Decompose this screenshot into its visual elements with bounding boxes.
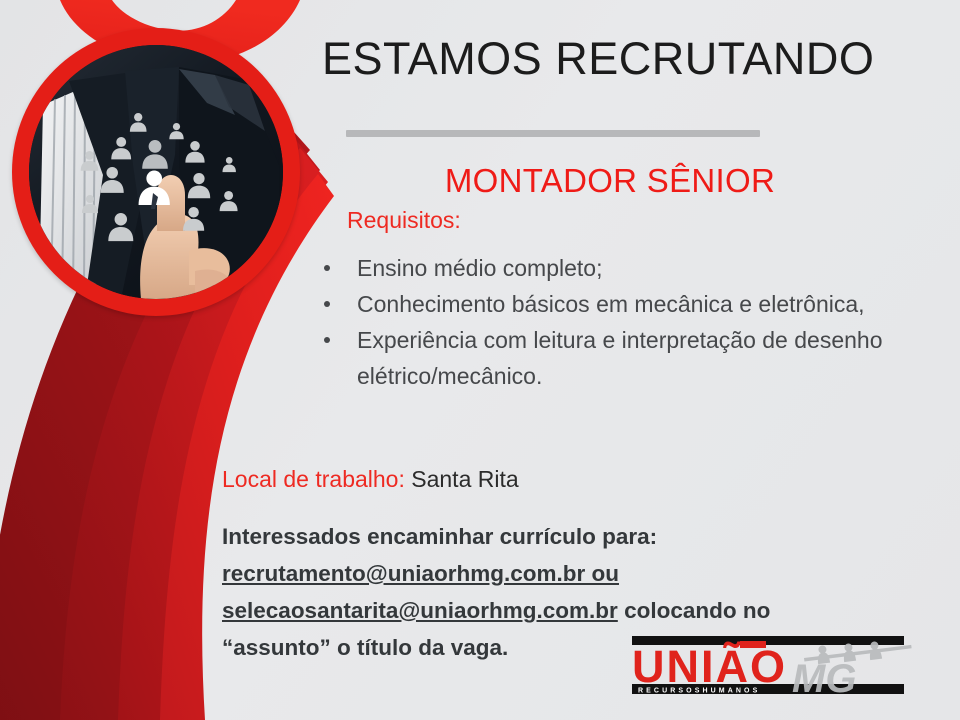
photo-circle-frame [12,28,300,316]
requirement-text: Ensino médio completo; [357,255,602,281]
svg-text:RECURSOSHUMANOS: RECURSOSHUMANOS [638,688,760,695]
bullet-icon [324,265,330,271]
contact-tail-one: colocando no [624,598,770,623]
contact-intro: Interessados encaminhar currículo para: [222,518,952,555]
requirements-list: Ensino médio completo; Conhecimento bási… [318,250,918,394]
page-title: ESTAMOS RECRUTANDO [322,36,922,81]
bullet-icon [324,337,330,343]
email-secondary[interactable]: selecaosantarita@uniaorhmg.com.br [222,598,618,623]
recruitment-poster: ESTAMOS RECRUTANDO MONTADOR SÊNIOR Requi… [0,0,960,720]
job-title: MONTADOR SÊNIOR [330,162,890,200]
email-primary[interactable]: recrutamento@uniaorhmg.com.br ou [222,561,619,586]
contact-email-line-one: recrutamento@uniaorhmg.com.br ou [222,555,952,592]
company-logo: UNIÃO RECURSOSHUMANOS MG [632,634,932,696]
svg-text:MG: MG [792,657,856,696]
requirement-text: Experiência com leitura e interpretação … [357,327,883,389]
contact-email-line-two: selecaosantarita@uniaorhmg.com.br coloca… [222,592,952,629]
requirements-label: Requisitos: [347,207,461,234]
list-item: Ensino médio completo; [318,250,918,286]
work-location-label: Local de trabalho: [222,466,405,492]
list-item: Experiência com leitura e interpretação … [318,322,918,394]
requirement-text: Conhecimento básicos em mecânica e eletr… [357,291,865,317]
title-divider [346,130,760,137]
recruitment-photo [29,45,283,299]
list-item: Conhecimento básicos em mecânica e eletr… [318,286,918,322]
bullet-icon [324,301,330,307]
work-location-value: Santa Rita [411,466,518,492]
work-location: Local de trabalho: Santa Rita [222,466,519,493]
